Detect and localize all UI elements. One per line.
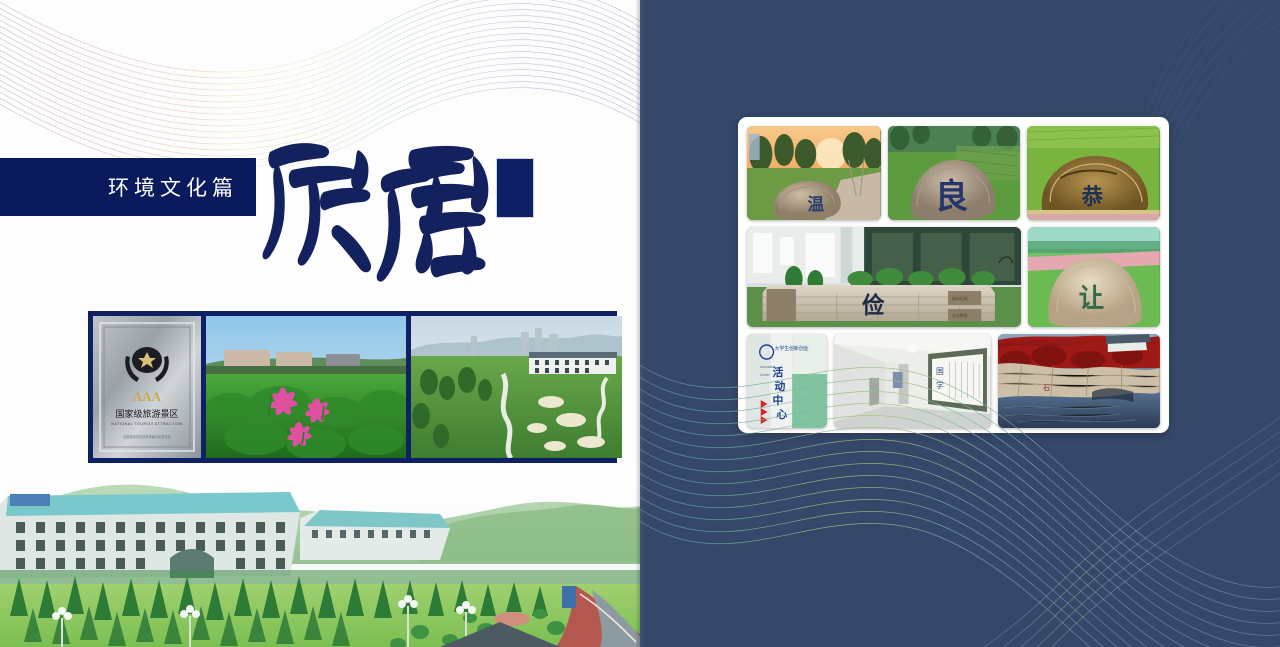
award-and-scenery-strip: AAA 国家级旅游景区 NATIONAL TOURIST ATTRACTION …	[88, 311, 617, 463]
svg-text:恭: 恭	[1081, 185, 1104, 210]
virtue-stones-photo-grid: 温	[738, 117, 1169, 433]
stone-liang: 良	[888, 126, 1021, 220]
chapter-banner-label: 环境文化篇	[108, 172, 238, 202]
right-page: 温	[640, 0, 1280, 647]
svg-text:温: 温	[807, 194, 824, 214]
svg-text:AAA: AAA	[133, 389, 162, 404]
svg-text:Center: Center	[760, 373, 771, 377]
svg-text:大学生创新创业: 大学生创新创业	[774, 345, 808, 352]
svg-text:全国旅游景区质量等级评定委员会: 全国旅游景区质量等级评定委员会	[123, 434, 172, 439]
brush-title-icon	[262, 130, 502, 290]
svg-text:动: 动	[774, 379, 785, 393]
svg-text:国: 国	[936, 367, 944, 376]
brochure-spread: 环境文化篇	[0, 0, 1280, 647]
left-page: 环境文化篇	[0, 0, 640, 647]
chapter-banner: 环境文化篇	[0, 158, 256, 216]
svg-text:国家级旅游景区: 国家级旅游景区	[115, 408, 178, 420]
stone-wen: 温	[747, 126, 881, 220]
page-fold-divider	[636, 0, 644, 647]
red-ivy-rock-waterside: 石	[998, 334, 1160, 428]
activity-center-wall: 大学生创新创业 活动中心 InnovationCenter	[747, 334, 827, 428]
campus-panorama-photo	[0, 466, 640, 647]
svg-text:石: 石	[1043, 384, 1050, 392]
aaa-national-tourist-plaque: AAA 国家级旅游景区 NATIONAL TOURIST ATTRACTION …	[93, 316, 201, 458]
navy-accent-block	[496, 158, 534, 218]
svg-text:俭: 俭	[862, 292, 885, 319]
stone-wall-jian: 俭 校训石刻文化景观	[747, 227, 1021, 327]
svg-text:良: 良	[934, 176, 968, 216]
brush-calligraphy-title	[262, 130, 502, 290]
stone-gong: 恭	[1027, 126, 1160, 220]
svg-text:文化景观: 文化景观	[952, 313, 968, 318]
lotus-pond-campus-photo	[206, 316, 406, 458]
svg-text:校训石刻: 校训石刻	[952, 296, 968, 301]
svg-text:NATIONAL TOURIST ATTRACTION: NATIONAL TOURIST ATTRACTION	[111, 422, 182, 426]
svg-text:Innovation: Innovation	[760, 365, 775, 369]
svg-text:中: 中	[772, 393, 783, 407]
corridor-with-framed-calligraphy: 国学	[834, 334, 991, 428]
svg-text:让: 让	[1079, 284, 1105, 314]
stone-rang: 让	[1028, 227, 1160, 327]
svg-text:学: 学	[936, 380, 944, 390]
svg-text:心: 心	[776, 408, 787, 421]
golf-course-campus-photo	[411, 316, 622, 458]
